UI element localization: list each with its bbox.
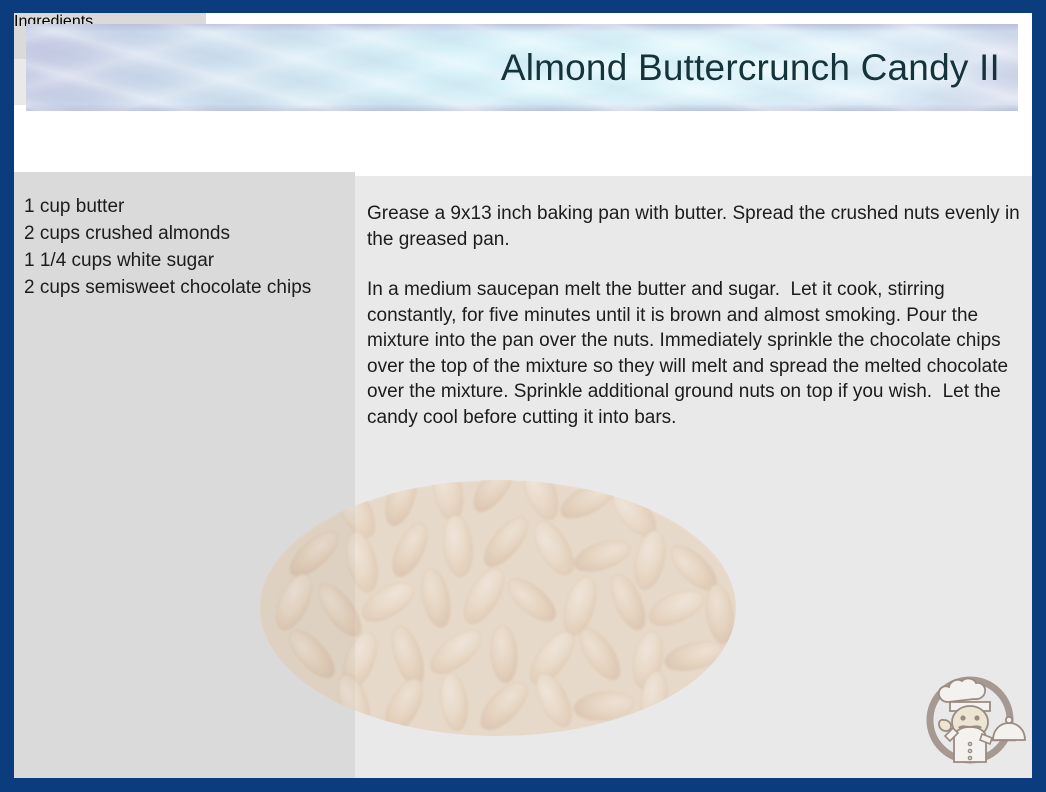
list-item: 1 cup butter bbox=[24, 193, 351, 220]
slide-frame: Almond Buttercrunch Candy II Ingredients… bbox=[0, 0, 1046, 792]
ingredients-list: 1 cup butter 2 cups crushed almonds 1 1/… bbox=[24, 193, 351, 301]
directions-paragraph: Grease a 9x13 inch baking pan with butte… bbox=[367, 201, 1027, 252]
page-title: Almond Buttercrunch Candy II bbox=[501, 47, 1000, 89]
header-banner: Almond Buttercrunch Candy II bbox=[26, 24, 1018, 111]
directions-paragraph: In a medium saucepan melt the butter and… bbox=[367, 277, 1027, 430]
recipe-card-page: Almond Buttercrunch Candy II Ingredients… bbox=[14, 13, 1032, 778]
directions-panel: Grease a 9x13 inch baking pan with butte… bbox=[355, 176, 1032, 778]
ingredients-panel: 1 cup butter 2 cups crushed almonds 1 1/… bbox=[14, 172, 355, 778]
list-item: 2 cups crushed almonds bbox=[24, 220, 351, 247]
list-item: 1 1/4 cups white sugar bbox=[24, 247, 351, 274]
directions-body: Grease a 9x13 inch baking pan with butte… bbox=[367, 201, 1027, 430]
list-item: 2 cups semisweet chocolate chips bbox=[24, 274, 351, 301]
